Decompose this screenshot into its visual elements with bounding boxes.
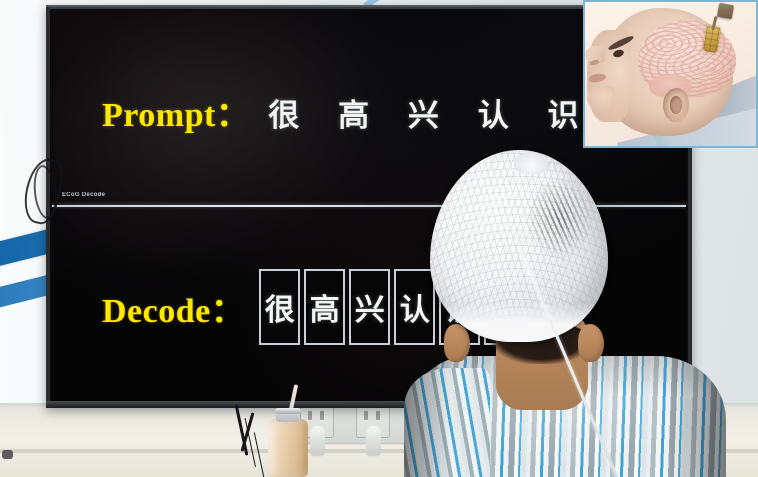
- beverage-bottle: [268, 408, 308, 477]
- socket-slot-icon: [364, 411, 368, 420]
- inset-ear-canal: [670, 96, 682, 114]
- bottle-cap: [275, 408, 301, 414]
- socket-slot-icon: [308, 411, 312, 420]
- gas-outlet-plug: [310, 426, 325, 456]
- skull-connector-icon: [717, 3, 734, 19]
- screenshot-scene: Prompt： 很 高 兴 认 识 你 ECoG Decode Decode： …: [0, 0, 758, 477]
- socket-slot-icon: [376, 411, 380, 420]
- patient-head-bandage: [430, 150, 608, 342]
- bandage-dark-patch: [526, 176, 594, 260]
- floor-cable-end: [2, 450, 13, 459]
- patient-shoulder-shading: [404, 368, 490, 477]
- brain-implant-inset: [583, 0, 758, 148]
- bottle-body: [268, 419, 308, 477]
- inset-chin: [587, 86, 615, 112]
- bandage-knot: [514, 152, 548, 174]
- bandage-loose-thread: [444, 154, 490, 168]
- socket-slot-icon: [320, 411, 324, 420]
- gas-outlet-plug: [366, 426, 381, 456]
- patient: [418, 140, 718, 477]
